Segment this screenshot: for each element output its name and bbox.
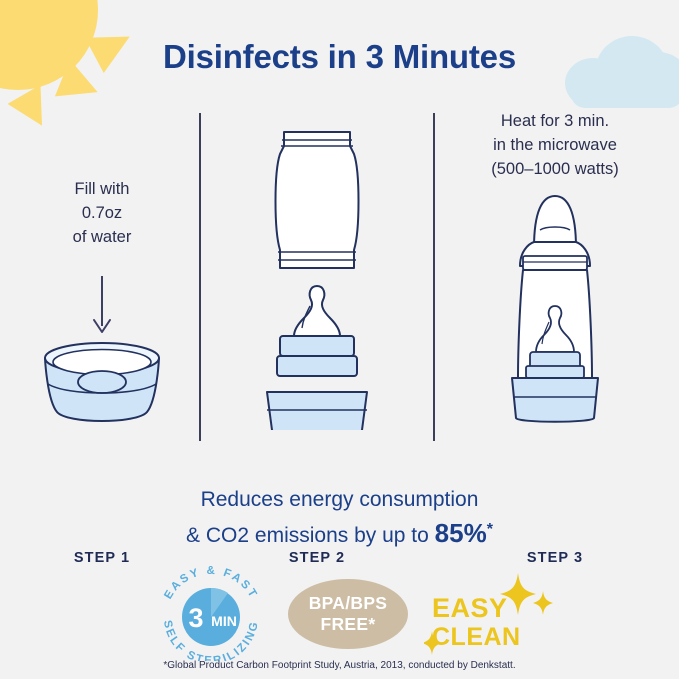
step-1-caption-line-2: 0.7oz xyxy=(14,202,190,226)
badge-row: EASY & FAST SELF STERILIZING 3 MIN BPA/B… xyxy=(0,565,679,657)
three-min-badge: EASY & FAST SELF STERILIZING 3 MIN xyxy=(152,565,270,661)
page-title: Disinfects in 3 Minutes xyxy=(0,38,679,76)
bowl-with-water-illustration xyxy=(37,338,167,434)
claim-line-1: Reduces energy consumption xyxy=(0,485,679,515)
step-3-caption: Heat for 3 min. in the microwave (500–10… xyxy=(444,110,666,182)
step-3-caption-line-3: (500–1000 watts) xyxy=(444,158,666,182)
easy-clean-line-2: CLEAN xyxy=(432,625,521,650)
infographic-canvas: Disinfects in 3 Minutes Fill with 0.7oz … xyxy=(0,0,679,679)
claim-asterisk: * xyxy=(487,521,493,538)
step-1-column: Fill with 0.7oz of water STEP 1 xyxy=(14,110,190,250)
bottle-parts-illustration xyxy=(242,110,392,430)
bpa-badge-line-2: FREE* xyxy=(321,614,376,635)
bpa-free-badge: BPA/BPS FREE* xyxy=(288,579,408,649)
easy-clean-badge: EASY CLEAN xyxy=(424,569,560,657)
bpa-badge-line-1: BPA/BPS xyxy=(309,593,388,614)
claim-line-2-prefix: & CO2 emissions by up to xyxy=(186,524,435,547)
step-1-label: STEP 1 xyxy=(14,550,190,566)
step-3-column: Heat for 3 min. in the microwave (500–10… xyxy=(444,110,666,182)
column-divider-1 xyxy=(199,113,201,441)
easy-clean-line-1: EASY xyxy=(432,595,521,622)
step-1-caption-line-1: Fill with xyxy=(14,178,190,202)
step-2-label: STEP 2 xyxy=(210,550,424,566)
energy-claim: Reduces energy consumption & CO2 emissio… xyxy=(0,485,679,552)
column-divider-2 xyxy=(433,113,435,441)
three-min-badge-value: 3 xyxy=(188,603,203,633)
footnote: *Global Product Carbon Footprint Study, … xyxy=(0,660,679,671)
claim-percentage: 85% xyxy=(435,518,487,548)
step-3-label: STEP 3 xyxy=(444,550,666,566)
step-3-caption-line-1: Heat for 3 min. xyxy=(444,110,666,134)
assembled-bottle-illustration xyxy=(490,188,620,448)
step-1-caption-line-3: of water xyxy=(14,226,190,250)
down-arrow-icon xyxy=(90,276,114,336)
three-min-badge-unit: MIN xyxy=(211,613,237,629)
step-1-caption: Fill with 0.7oz of water xyxy=(14,178,190,250)
step-3-caption-line-2: in the microwave xyxy=(444,134,666,158)
claim-line-2: & CO2 emissions by up to 85%* xyxy=(0,515,679,552)
